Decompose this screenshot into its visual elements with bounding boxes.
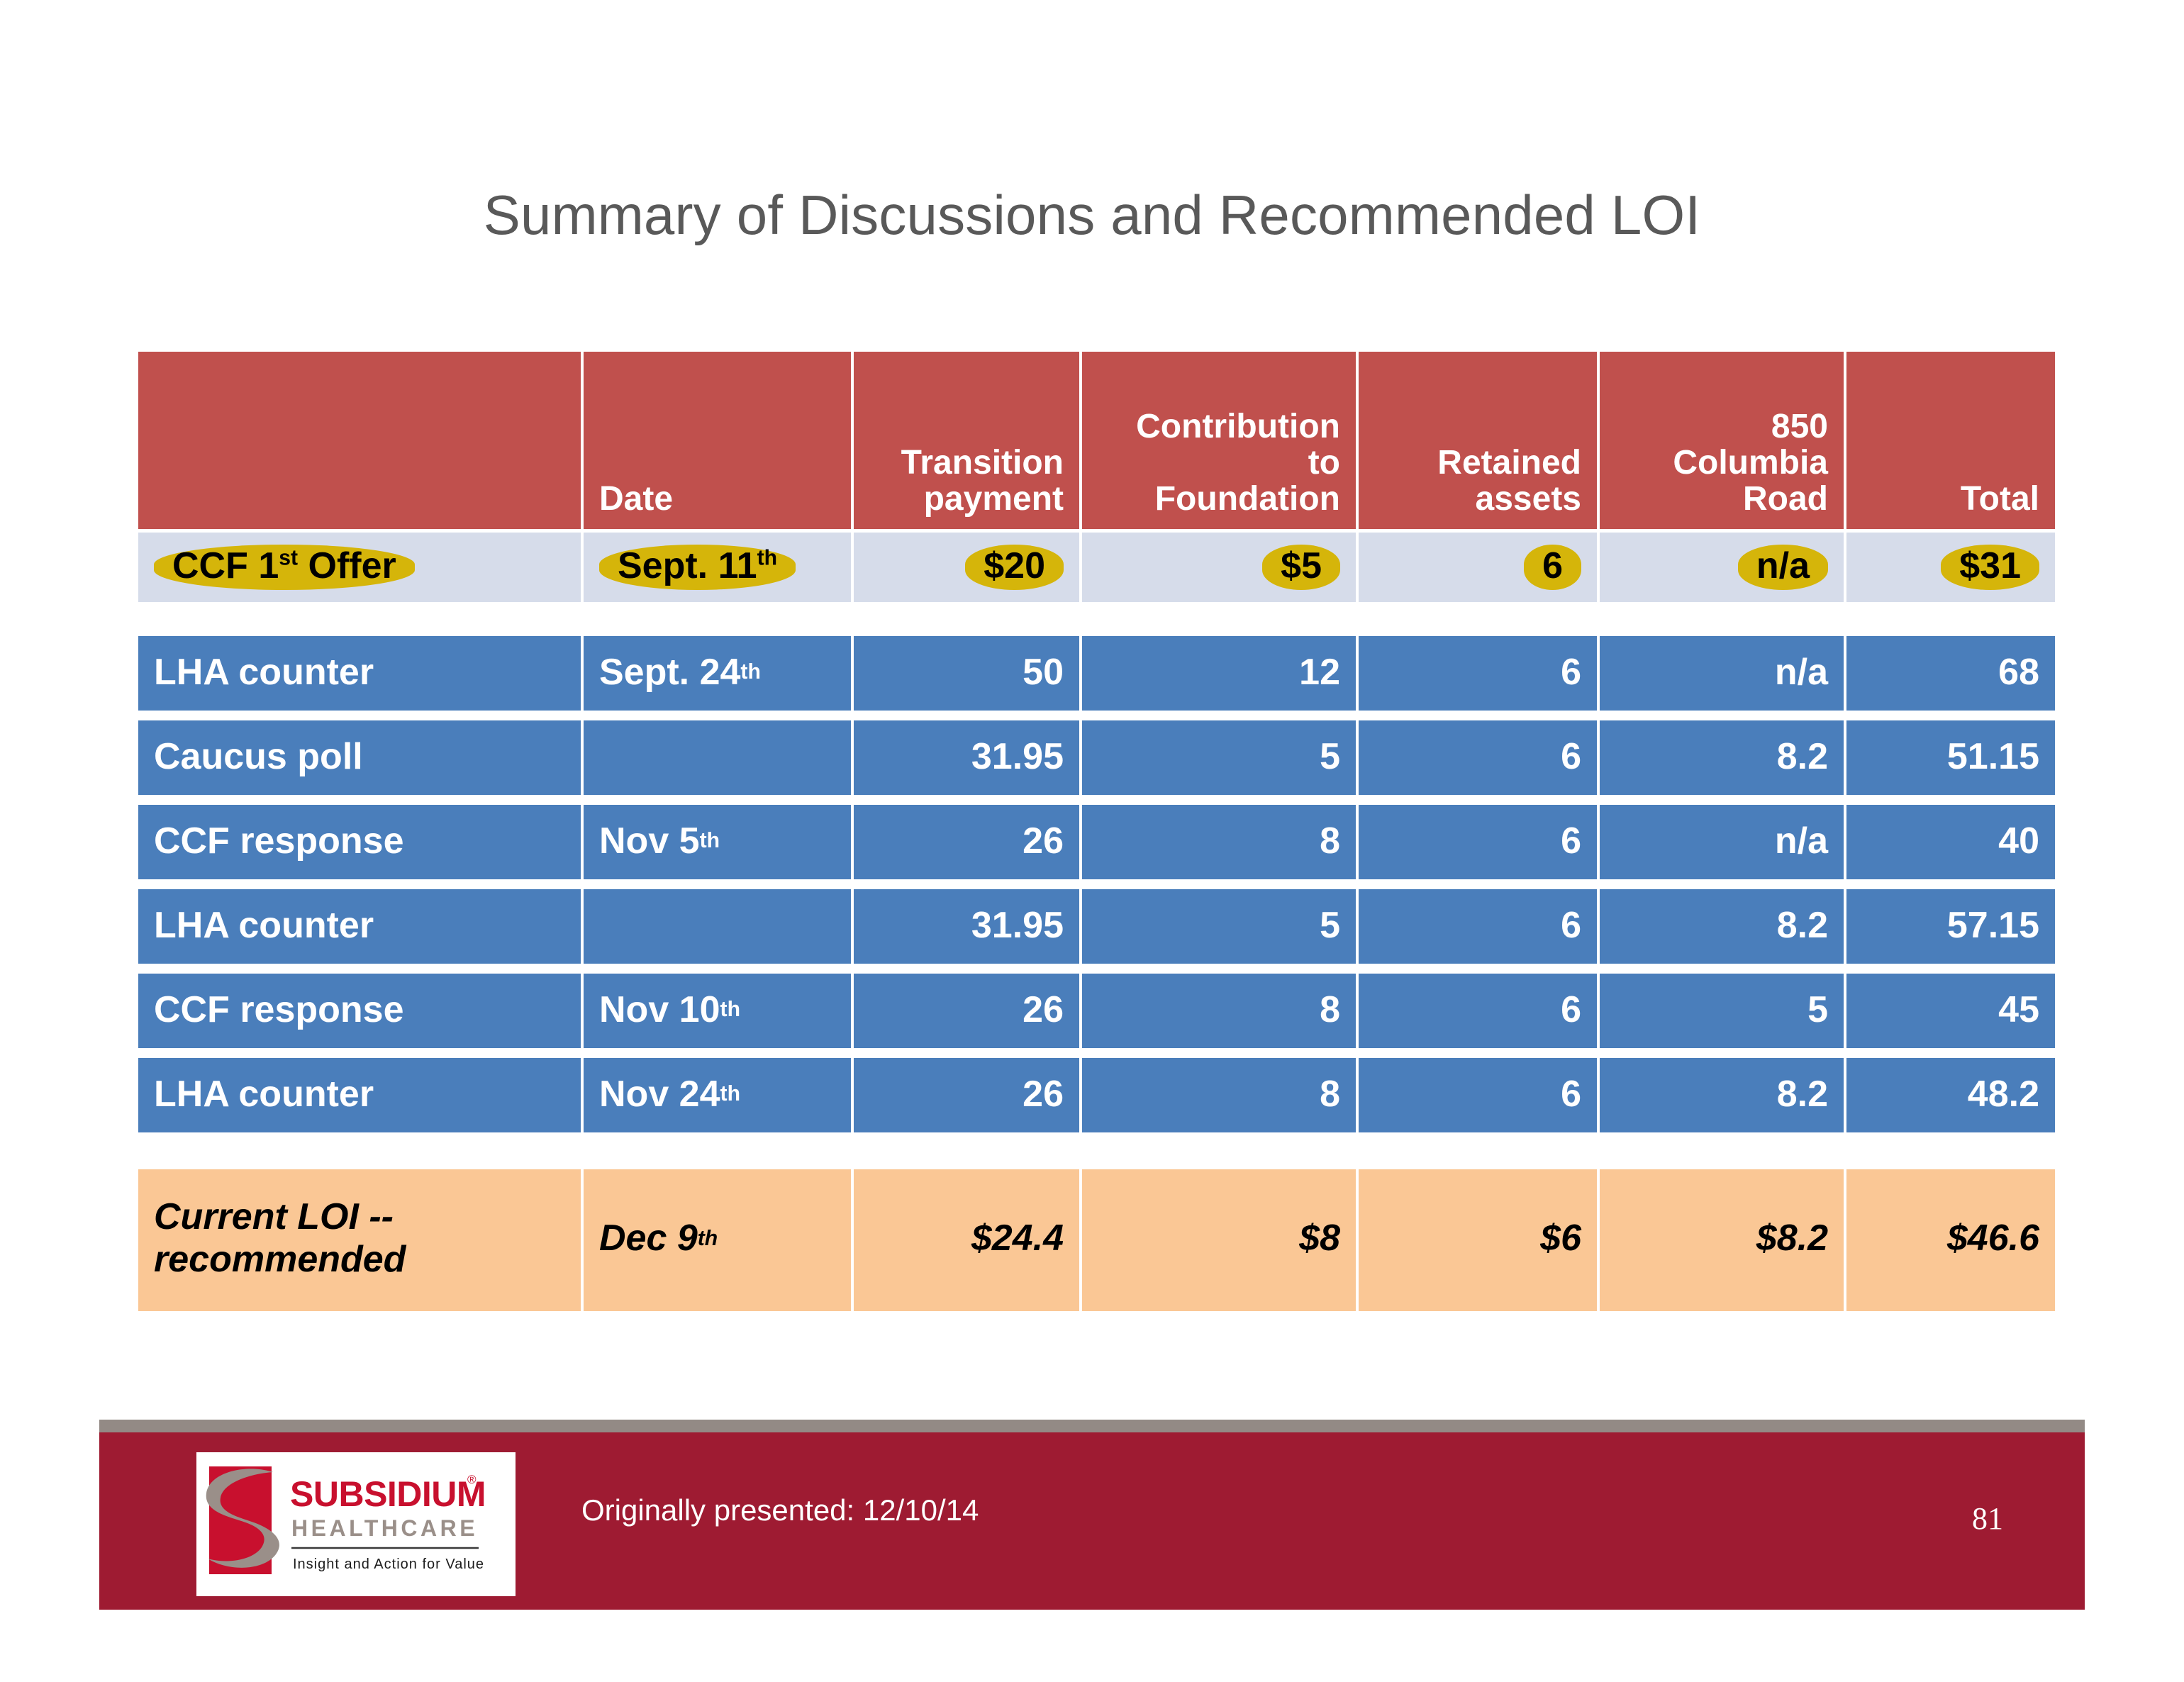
table-row: CCF responseNov 5th2686n/a40: [138, 805, 2055, 879]
recommended-label-line1: Current LOI --: [154, 1196, 406, 1239]
header-columbia-line3: Road: [1673, 481, 1828, 518]
cell-retained-assets: 6: [1356, 1058, 1597, 1132]
cell-retained-assets: 6: [1356, 636, 1597, 711]
cell-total: 48.2: [1844, 1058, 2055, 1132]
cell-label: Caucus poll: [138, 720, 581, 795]
cell-total-text: 45: [1998, 988, 2039, 1031]
recommended-date: Dec 9: [599, 1218, 698, 1260]
cell-contribution: 8: [1079, 974, 1356, 1048]
cell-retained-assets-text: 6: [1561, 735, 1581, 778]
cell-columbia-road: 8.2: [1597, 1058, 1844, 1132]
cell-transition-payment: 31.95: [851, 889, 1079, 964]
cell-retained-assets: 6: [1356, 720, 1597, 795]
header-cell-label: [138, 352, 581, 529]
header-cell-total: Total: [1844, 352, 2055, 529]
date-text: Sept. 11: [618, 545, 757, 586]
cell-label-text: LHA counter: [154, 1073, 374, 1115]
cell-date: Sept. 24th: [581, 636, 851, 711]
cell-contribution: 8: [1079, 1058, 1356, 1132]
cell-date: Nov 10th: [581, 974, 851, 1048]
cell-contribution: $5: [1079, 533, 1356, 602]
cell-columbia-road: 8.2: [1597, 720, 1844, 795]
footer-bar: SUBSIDIUM ® HEALTHCARE Insight and Actio…: [99, 1432, 2085, 1610]
cell-transition-payment: 26: [851, 805, 1079, 879]
cell-total: $31: [1844, 533, 2055, 602]
table-body: LHA counterSept. 24th50126n/a68Caucus po…: [138, 636, 2055, 1132]
cell-label-text: CCF response: [154, 820, 404, 862]
cell-columbia-road-text: n/a: [1775, 651, 1828, 694]
cell-total: 51.15: [1844, 720, 2055, 795]
header-transition-line1: Transition: [901, 445, 1064, 481]
table-row-current-loi-recommended: Current LOI -- recommended Dec 9th $24.4…: [138, 1169, 2055, 1311]
header-cell-retained-assets: Retained assets: [1356, 352, 1597, 529]
cell-columbia-road-text: n/a: [1775, 820, 1828, 862]
logo-registered-mark: ®: [467, 1473, 477, 1486]
cell-date-text: Nov 5: [599, 820, 700, 862]
cell-retained-assets: 6: [1356, 974, 1597, 1048]
header-cell-columbia-road: 850 Columbia Road: [1597, 352, 1844, 529]
cell-total-text: 57.15: [1947, 904, 2039, 947]
cell-label-text: CCF response: [154, 988, 404, 1031]
header-cell-transition-payment: Transition payment: [851, 352, 1079, 529]
cell-label: CCF response: [138, 974, 581, 1048]
cell-date: [581, 889, 851, 964]
loi-summary-table: Date Transition payment Contribution to …: [138, 352, 2055, 1311]
cell-transition-payment-text: 26: [1023, 820, 1064, 862]
cell-transition-payment: 26: [851, 1058, 1079, 1132]
header-columbia-line2: Columbia: [1673, 445, 1828, 481]
cell-columbia-road: n/a: [1597, 533, 1844, 602]
cell-contribution: 8: [1079, 805, 1356, 879]
label-text: CCF 1: [172, 545, 279, 586]
footer-presented-note: Originally presented: 12/10/14: [581, 1493, 979, 1527]
cell-transition-payment: 26: [851, 974, 1079, 1048]
cell-transition-payment-text: 31.95: [971, 904, 1064, 947]
cell-columbia-road-text: 8.2: [1777, 1073, 1828, 1115]
highlight-pill-label: CCF 1st Offer: [154, 545, 415, 590]
cell-contribution-text: 8: [1320, 988, 1340, 1031]
cell-label: LHA counter: [138, 1058, 581, 1132]
cell-contribution: 5: [1079, 889, 1356, 964]
logo-tagline: Insight and Action for Value: [293, 1556, 484, 1572]
cell-columbia-road: $8.2: [1597, 1169, 1844, 1311]
cell-transition-payment: 50: [851, 636, 1079, 711]
cell-total-text: 48.2: [1968, 1073, 2039, 1115]
cell-label: LHA counter: [138, 636, 581, 711]
header-retained-line1: Retained: [1437, 445, 1581, 481]
label-ordinal: st: [279, 547, 298, 570]
cell-label: LHA counter: [138, 889, 581, 964]
cell-label-text: Caucus poll: [154, 735, 363, 778]
cell-date-text: Nov 24: [599, 1073, 720, 1115]
header-cell-date: Date: [581, 352, 851, 529]
highlight-pill-retained-assets: 6: [1524, 545, 1581, 590]
cell-contribution: $8: [1079, 1169, 1356, 1311]
cell-columbia-road-text: 8.2: [1777, 735, 1828, 778]
cell-retained-assets-text: 6: [1561, 988, 1581, 1031]
cell-total-text: 40: [1998, 820, 2039, 862]
header-columbia-line1: 850: [1673, 409, 1828, 445]
table-row: CCF responseNov 10th2686545: [138, 974, 2055, 1048]
cell-retained-assets-text: 6: [1561, 651, 1581, 694]
cell-retained-assets: 6: [1356, 533, 1597, 602]
cell-total-text: 68: [1998, 651, 2039, 694]
cell-contribution: 5: [1079, 720, 1356, 795]
cell-label-text: LHA counter: [154, 904, 374, 947]
cell-label: Current LOI -- recommended: [138, 1169, 581, 1311]
cell-transition-payment: 31.95: [851, 720, 1079, 795]
table-header-row: Date Transition payment Contribution to …: [138, 352, 2055, 529]
cell-transition-payment-text: 50: [1023, 651, 1064, 694]
cell-label: CCF 1st Offer: [138, 533, 581, 602]
page-number: 81: [1972, 1500, 2003, 1537]
header-cell-contribution: Contribution to Foundation: [1079, 352, 1356, 529]
cell-contribution-text: 8: [1320, 1073, 1340, 1115]
cell-contribution-text: 5: [1320, 735, 1340, 778]
header-retained-line2: assets: [1437, 481, 1581, 518]
cell-contribution-text: 12: [1299, 651, 1340, 694]
cell-total: 45: [1844, 974, 2055, 1048]
cell-label: CCF response: [138, 805, 581, 879]
cell-transition-payment: $20: [851, 533, 1079, 602]
cell-transition-payment-text: 26: [1023, 988, 1064, 1031]
highlight-pill-columbia-road: n/a: [1738, 545, 1828, 590]
cell-columbia-road: n/a: [1597, 805, 1844, 879]
table-row: LHA counter31.95568.257.15: [138, 889, 2055, 964]
cell-date-text: Sept. 24: [599, 651, 740, 694]
logo-svg: SUBSIDIUM ® HEALTHCARE Insight and Actio…: [196, 1452, 516, 1596]
highlight-pill-date: Sept. 11th: [599, 545, 796, 590]
cell-retained-assets: 6: [1356, 889, 1597, 964]
cell-columbia-road-text: 5: [1807, 988, 1828, 1031]
header-total-text: Total: [1961, 481, 2039, 518]
page-title: Summary of Discussions and Recommended L…: [0, 183, 2184, 247]
cell-transition-payment: $24.4: [851, 1169, 1079, 1311]
cell-transition-payment-text: 26: [1023, 1073, 1064, 1115]
cell-contribution-text: 5: [1320, 904, 1340, 947]
highlight-pill-total: $31: [1941, 545, 2039, 590]
header-contribution-line3: Foundation: [1136, 481, 1340, 518]
cell-columbia-road-text: 8.2: [1777, 904, 1828, 947]
cell-total: 57.15: [1844, 889, 2055, 964]
label-tail: Offer: [298, 545, 396, 586]
cell-contribution-text: 8: [1320, 820, 1340, 862]
cell-retained-assets-text: 6: [1561, 1073, 1581, 1115]
cell-contribution: 12: [1079, 636, 1356, 711]
cell-total: $46.6: [1844, 1169, 2055, 1311]
table-row: Caucus poll31.95568.251.15: [138, 720, 2055, 795]
cell-date: Nov 5th: [581, 805, 851, 879]
table-row: LHA counterSept. 24th50126n/a68: [138, 636, 2055, 711]
header-contribution-line2: to: [1136, 445, 1340, 481]
cell-date-text: Nov 10: [599, 988, 720, 1031]
cell-columbia-road: 8.2: [1597, 889, 1844, 964]
cell-transition-payment-text: 31.95: [971, 735, 1064, 778]
cell-date: Sept. 11th: [581, 533, 851, 602]
cell-total: 40: [1844, 805, 2055, 879]
date-ordinal: th: [757, 547, 777, 570]
cell-total-text: 51.15: [1947, 735, 2039, 778]
header-contribution-line1: Contribution: [1136, 409, 1340, 445]
logo-wordmark: SUBSIDIUM: [290, 1474, 486, 1514]
cell-label-text: LHA counter: [154, 651, 374, 694]
cell-date: Dec 9th: [581, 1169, 851, 1311]
cell-retained-assets-text: 6: [1561, 904, 1581, 947]
cell-total: 68: [1844, 636, 2055, 711]
logo-subtitle: HEALTHCARE: [291, 1515, 478, 1541]
footer-shadow-bar: [99, 1420, 2085, 1432]
header-date-text: Date: [599, 481, 673, 518]
recommended-label-line2: recommended: [154, 1239, 406, 1281]
subsidium-healthcare-logo: SUBSIDIUM ® HEALTHCARE Insight and Actio…: [196, 1452, 516, 1596]
table-row: LHA counterNov 24th26868.248.2: [138, 1058, 2055, 1132]
cell-date: [581, 720, 851, 795]
cell-columbia-road: n/a: [1597, 636, 1844, 711]
highlight-pill-transition-payment: $20: [965, 545, 1064, 590]
table-row-ccf-first-offer: CCF 1st Offer Sept. 11th $20 $5 6 n/a $3…: [138, 533, 2055, 602]
cell-retained-assets: $6: [1356, 1169, 1597, 1311]
header-transition-line2: payment: [901, 481, 1064, 518]
cell-date: Nov 24th: [581, 1058, 851, 1132]
cell-columbia-road: 5: [1597, 974, 1844, 1048]
cell-retained-assets: 6: [1356, 805, 1597, 879]
cell-retained-assets-text: 6: [1561, 820, 1581, 862]
highlight-pill-contribution: $5: [1262, 545, 1340, 590]
